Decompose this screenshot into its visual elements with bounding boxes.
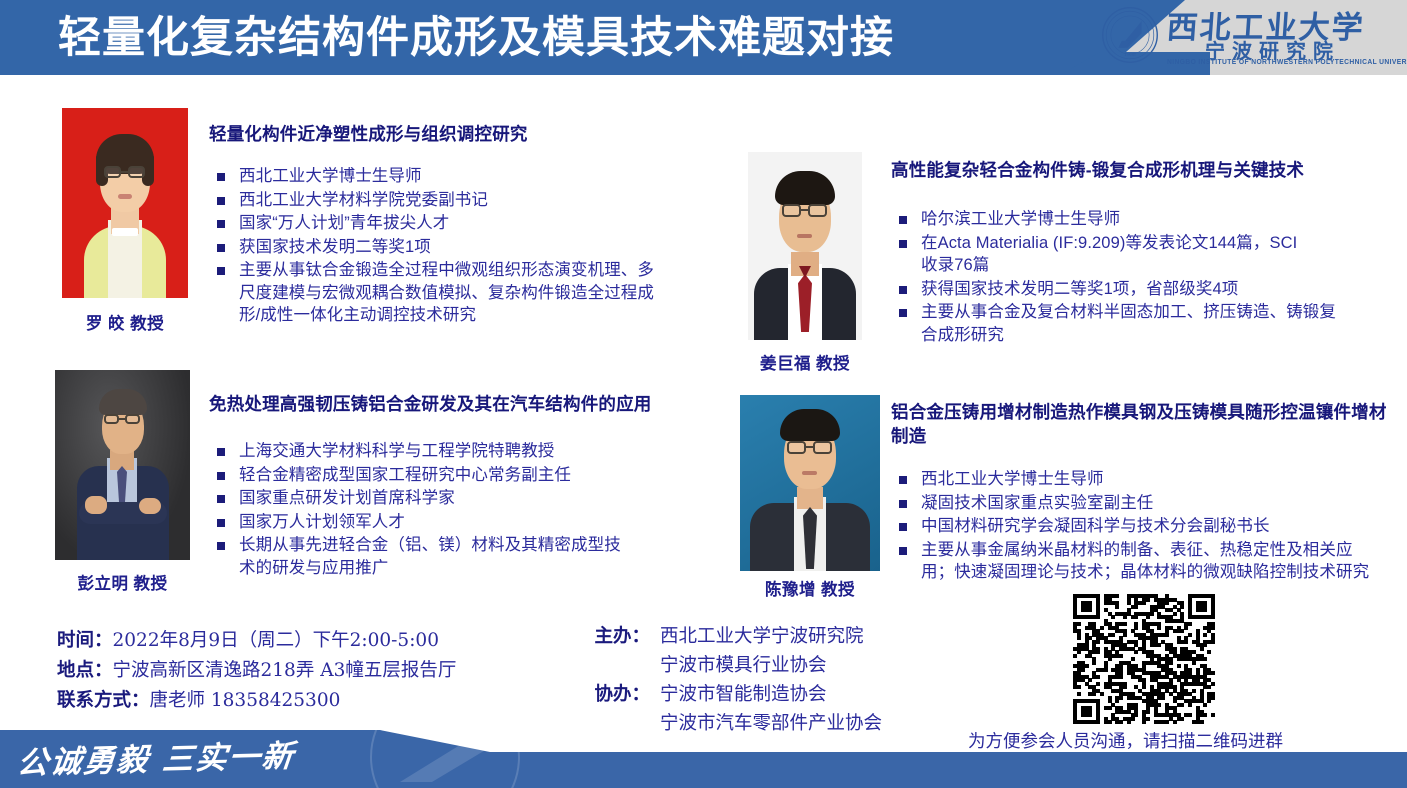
qr-code-icon[interactable] [1073,594,1215,724]
host-value-2: 宁波市模具行业协会 [588,651,827,680]
host-value-1: 西北工业大学宁波研究院 [650,622,864,651]
list-item: 西北工业大学材料学院党委副书记 [209,189,689,212]
profile-title-3: 免热处理高强韧压铸铝合金研发及其在汽车结构件的应用 [209,392,769,416]
page-title: 轻量化复杂结构件成形及模具技术难题对接 [58,8,1108,68]
list-item: 长期从事先进轻合金（铝、镁）材料及其精密成型技术的研发与应用推广 [209,534,629,579]
cohost-value-1: 宁波市智能制造协会 [650,680,827,709]
list-item: 主要从事钛合金锻造全过程中微观组织形态演变机理、多尺度建模与宏微观耦合数值模拟、… [209,259,669,327]
list-item: 获国家技术发明二等奖1项 [209,236,689,259]
list-item: 西北工业大学博士生导师 [209,165,689,188]
nwpu-emblem-icon: 1938 [1101,6,1159,64]
list-item: 国家万人计划领军人才 [209,511,709,534]
profile-photo-3 [55,370,190,560]
list-item: 国家“万人计划”青年拔尖人才 [209,212,689,235]
logo-name-en: NINGBO INSTITUTE OF NORTHWESTERN POLYTEC… [1167,59,1407,66]
cohost-label: 协办： [588,680,650,709]
list-item: 中国材料研究学会凝固科学与技术分会副秘书长 [891,515,1391,538]
list-item: 西北工业大学博士生导师 [891,468,1391,491]
list-item: 主要从事合金及复合材料半固态加工、挤压铸造、铸锻复合成形研究 [891,301,1336,346]
event-time-label: 时间： [57,630,113,651]
profile-bullets-3: 上海交通大学材料科学与工程学院特聘教授 轻合金精密成型国家工程研究中心常务副主任… [209,440,709,580]
profile-bullets-2: 哈尔滨工业大学博士生导师 在Acta Materialia (IF:9.209)… [891,208,1391,347]
profile-bullets-1: 西北工业大学博士生导师 西北工业大学材料学院党委副书记 国家“万人计划”青年拔尖… [209,165,689,328]
poster-root: 轻量化复杂结构件成形及模具技术难题对接 1938 西北工业大学 宁波研究院 NI… [0,0,1407,788]
host-label: 主办： [588,622,650,651]
cohost-row-1: 协办： 宁波市智能制造协会 [588,680,882,709]
header-bar: 轻量化复杂结构件成形及模具技术难题对接 1938 西北工业大学 宁波研究院 NI… [0,0,1407,75]
event-time-value: 2022年8月9日（周二）下午2:00-5:00 [113,630,439,651]
event-time-row: 时间：2022年8月9日（周二）下午2:00-5:00 [57,626,456,656]
profile-name-3: 彭立明 教授 [55,570,190,594]
event-place-label: 地点： [57,660,113,681]
profile-bullets-4: 西北工业大学博士生导师 凝固技术国家重点实验室副主任 中国材料研究学会凝固科学与… [891,468,1391,585]
event-info: 时间：2022年8月9日（周二）下午2:00-5:00 地点：宁波高新区清逸路2… [57,626,456,716]
profile-title-1: 轻量化构件近净塑性成形与组织调控研究 [209,122,729,146]
list-item: 主要从事金属纳米晶材料的制备、表征、热稳定性及相关应用；快速凝固理论与技术；晶体… [891,539,1381,584]
profile-photo-1 [62,108,188,298]
list-item: 上海交通大学材料科学与工程学院特聘教授 [209,440,709,463]
footer-motto: 公诚勇毅 三实一新 [15,730,297,782]
profile-photo-2 [748,152,862,340]
event-place-value: 宁波高新区清逸路218弄 A3幢五层报告厅 [113,660,457,681]
list-item: 获得国家技术发明二等奖1项，省部级奖4项 [891,278,1391,301]
profile-name-4: 陈豫增 教授 [740,576,880,600]
event-contact-value: 唐老师 18358425300 [150,690,341,711]
list-item: 在Acta Materialia (IF:9.209)等发表论文144篇，SCI… [891,232,1301,277]
profile-title-2: 高性能复杂轻合金构件铸-锻复合成形机理与关键技术 [891,158,1403,182]
svg-text:1938: 1938 [1124,52,1136,58]
organizers-block: 主办： 西北工业大学宁波研究院 宁波市模具行业协会 协办： 宁波市智能制造协会 … [588,622,882,738]
profile-name-1: 罗 皎 教授 [62,310,188,334]
list-item: 凝固技术国家重点实验室副主任 [891,492,1391,515]
nwpu-emblem-watermark-icon [370,730,520,788]
footer-bar: 公诚勇毅 三实一新 [0,730,1407,788]
list-item: 国家重点研发计划首席科学家 [209,487,709,510]
host-row-1: 主办： 西北工业大学宁波研究院 [588,622,882,651]
list-item: 轻合金精密成型国家工程研究中心常务副主任 [209,464,709,487]
event-contact-label: 联系方式： [57,690,150,711]
list-item: 哈尔滨工业大学博士生导师 [891,208,1391,231]
host-row-2: 宁波市模具行业协会 [588,651,882,680]
university-logo: 1938 西北工业大学 宁波研究院 NINGBO INSTITUTE OF NO… [1093,4,1393,72]
event-place-row: 地点：宁波高新区清逸路218弄 A3幢五层报告厅 [57,656,456,686]
qr-code-canvas [1073,594,1215,724]
profile-photo-4 [740,395,880,571]
profile-title-4: 铝合金压铸用增材制造热作模具钢及压铸模具随形控温镶件增材制造 [891,400,1389,448]
event-contact-row: 联系方式：唐老师 18358425300 [57,686,456,716]
profile-name-2: 姜巨福 教授 [748,350,862,374]
